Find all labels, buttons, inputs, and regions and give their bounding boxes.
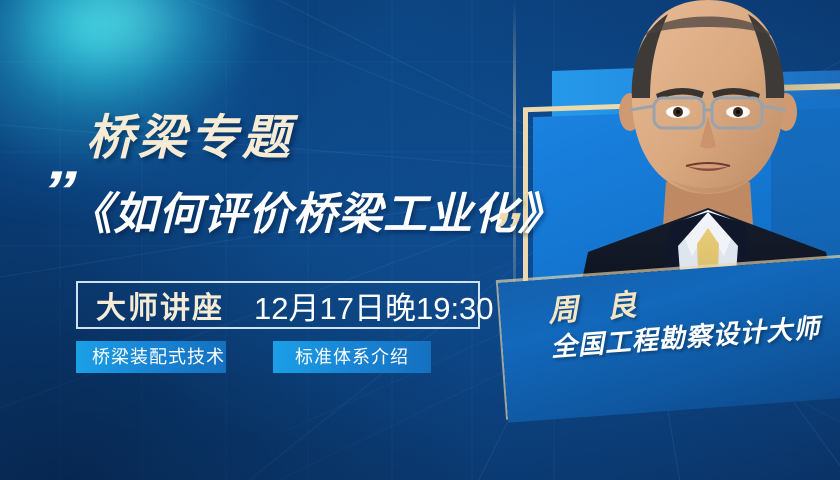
lecture-datetime: 12月17日晚19:30 [240,283,494,328]
page-subtitle: 《如何评价桥梁工业化》 [68,178,563,242]
poster-root: 周 良 全国工程勘察设计大师 桥梁专题 ” 《如何评价桥梁工业化》 ” 大师讲座… [0,0,840,480]
topic-tags: 桥梁装配式技术 标准体系介绍 [76,341,431,373]
topic-tag-2[interactable]: 标准体系介绍 [273,341,431,373]
teal-glow-core [25,0,255,110]
decor-vertical-gold-line [513,0,516,300]
lecture-label: 大师讲座 [78,283,240,327]
page-title: 桥梁专题 [86,98,294,168]
quote-close-mark: ” [492,206,521,252]
lecture-info-box: 大师讲座 12月17日晚19:30 [76,281,480,329]
speaker-nameplate: 周 良 全国工程勘察设计大师 [498,257,840,422]
topic-tag-1[interactable]: 桥梁装配式技术 [76,341,226,373]
